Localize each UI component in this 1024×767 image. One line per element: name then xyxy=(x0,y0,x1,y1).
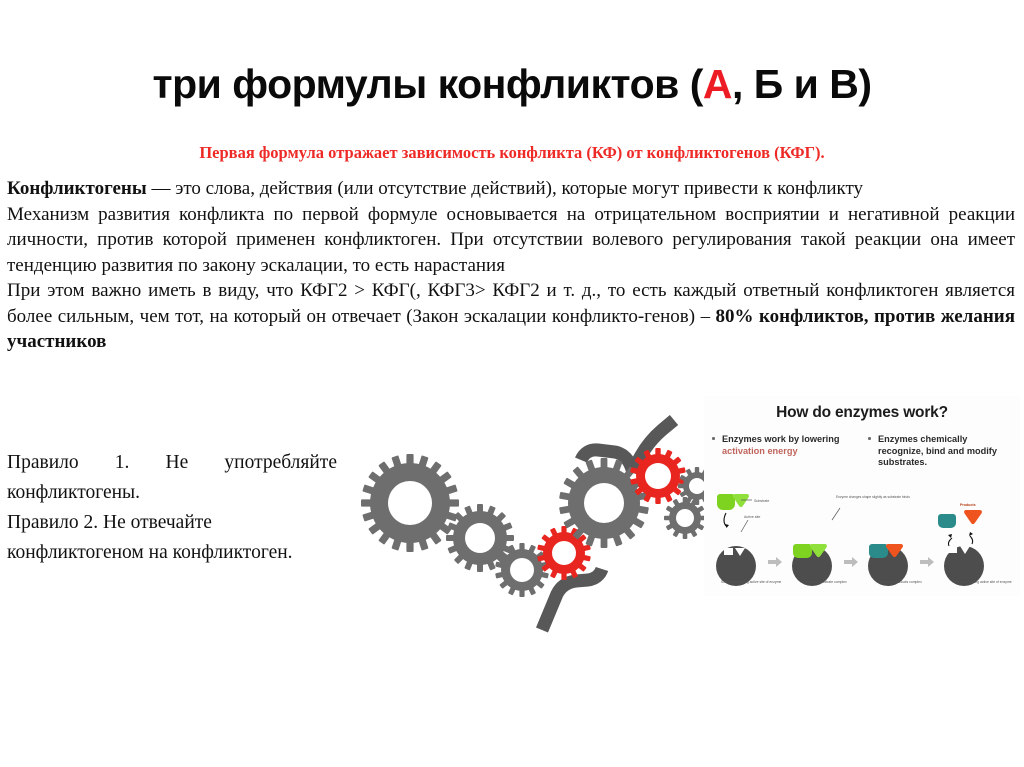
stage-2-caption: Enzyme/substrate complex xyxy=(806,580,847,584)
stage-1-caption: Substrate entering active site of enzyme xyxy=(721,580,781,584)
enzyme-stage-1: Substrate Active site Substrate entering… xyxy=(716,494,781,586)
bullet-dot-icon xyxy=(712,437,715,440)
label-shape-note: Enzyme changes shape slightly as substra… xyxy=(836,495,910,499)
label-products: Products xyxy=(960,503,976,507)
paragraph-mechanism: Механизм развития конфликта по первой фо… xyxy=(7,202,1015,279)
enzyme-bullet-left: Enzymes work by lowering activation ener… xyxy=(712,434,856,469)
enzyme-reaction-diagram: Substrate Active site Substrate entering… xyxy=(708,488,1016,592)
enzyme-bullets: Enzymes work by lowering activation ener… xyxy=(712,434,1012,469)
bullet-left-text: Enzymes work by lowering xyxy=(722,434,839,444)
gear-gray-1 xyxy=(361,454,459,552)
bullet-left-highlight: activation energy xyxy=(722,446,798,456)
enzyme-bullet-right: Enzymes chemically recognize, bind and m… xyxy=(868,434,1012,469)
belt-path xyxy=(542,569,602,630)
enzyme-stage-4: Products Products leaving active site of… xyxy=(938,503,1012,586)
rules-block: Правило 1. Не употребляйте конфликтогены… xyxy=(7,448,337,568)
label-active-site: Active site xyxy=(744,515,760,519)
term-konfliktogeny: Конфликтогены xyxy=(7,178,147,199)
gear-gray-6 xyxy=(664,497,706,539)
page-title: три формулы конфликтов (А, Б и В) xyxy=(0,62,1024,107)
bullet-dot-icon xyxy=(868,437,871,440)
subtitle: Первая формула отражает зависимость конф… xyxy=(0,143,1024,163)
arrow-3-icon xyxy=(920,557,934,567)
slide-canvas: три формулы конфликтов (А, Б и В) Первая… xyxy=(0,0,1024,767)
body-copy: Конфликтогены — это слова, действия (или… xyxy=(7,176,1015,355)
page-title-accent-letter: А xyxy=(703,61,732,107)
gear-red-1 xyxy=(537,526,591,580)
stage-3-caption: Enzyme/products complex xyxy=(882,580,922,584)
paragraph-escalation: При этом важно иметь в виду, что КФГ2 > … xyxy=(7,278,1015,355)
page-title-prefix: три формулы конфликтов ( xyxy=(153,61,703,107)
rule-2: Правило 2. Не отвечайте конфликтогеном н… xyxy=(7,508,337,568)
enzyme-infographic: How do enzymes work? Enzymes work by low… xyxy=(704,396,1020,596)
arrow-1-icon xyxy=(768,557,782,567)
paragraph-definition: Конфликтогены — это слова, действия (или… xyxy=(7,176,1015,202)
rule-1: Правило 1. Не употребляйте конфликтогены… xyxy=(7,448,337,508)
page-title-suffix: , Б и В) xyxy=(732,61,872,107)
bullet-right-text: Enzymes chemically recognize, bind and m… xyxy=(878,434,997,467)
stage-4-caption: Products leaving active site of enzyme xyxy=(954,580,1012,584)
arrow-2-icon xyxy=(844,557,858,567)
definition-text: — это слова, действия (или отсутствие де… xyxy=(147,178,863,199)
enzyme-stage-3: Enzyme/products complex xyxy=(868,544,922,586)
gear-chain-illustration xyxy=(352,398,712,633)
enzyme-title: How do enzymes work? xyxy=(704,404,1020,422)
label-substrate: Substrate xyxy=(754,499,769,503)
